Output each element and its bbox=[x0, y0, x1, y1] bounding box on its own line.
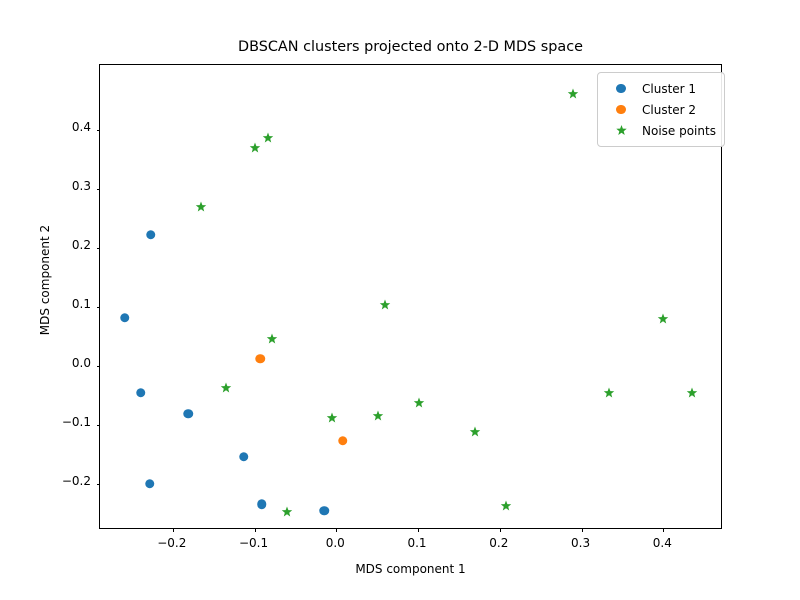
scatter-point bbox=[195, 201, 206, 212]
scatter-point bbox=[266, 333, 277, 344]
scatter-point bbox=[220, 383, 231, 394]
legend-box: Cluster 1Cluster 2Noise points bbox=[597, 72, 725, 147]
scatter-point bbox=[603, 388, 614, 399]
scatter-point bbox=[282, 507, 293, 518]
scatter-point bbox=[319, 506, 329, 516]
y-tick bbox=[97, 248, 101, 249]
y-tick bbox=[97, 366, 101, 367]
x-tick bbox=[255, 528, 256, 532]
x-tick bbox=[173, 528, 174, 532]
x-tick-label: 0.2 bbox=[489, 536, 508, 550]
scatter-point bbox=[257, 499, 267, 509]
legend-item[interactable]: Cluster 1 bbox=[604, 78, 716, 99]
x-tick bbox=[336, 528, 337, 532]
x-tick bbox=[663, 528, 664, 532]
x-tick-label: −0.2 bbox=[157, 536, 186, 550]
scatter-point bbox=[413, 398, 424, 409]
page-title: DBSCAN clusters projected onto 2-D MDS s… bbox=[99, 40, 722, 54]
scatter-point bbox=[145, 479, 155, 489]
scatter-point bbox=[567, 88, 578, 99]
scatter-point bbox=[372, 410, 383, 421]
scatter-point bbox=[658, 314, 669, 325]
legend-dot-icon bbox=[604, 105, 638, 115]
scatter-point bbox=[686, 388, 697, 399]
scatter-point bbox=[262, 132, 273, 143]
x-tick-label: 0.0 bbox=[326, 536, 345, 550]
legend-item-label: Noise points bbox=[638, 124, 716, 138]
legend-item-label: Cluster 1 bbox=[638, 82, 696, 96]
x-axis-label: MDS component 1 bbox=[99, 562, 722, 576]
matplotlib-figure: DBSCAN clusters projected onto 2-D MDS s… bbox=[0, 0, 800, 600]
legend-star-icon bbox=[604, 125, 638, 136]
scatter-point bbox=[501, 501, 512, 512]
scatter-point bbox=[327, 413, 338, 424]
legend-dot-icon bbox=[604, 84, 638, 94]
scatter-point bbox=[184, 409, 194, 419]
scatter-point bbox=[120, 313, 130, 323]
x-tick bbox=[418, 528, 419, 532]
x-tick-label: 0.1 bbox=[407, 536, 426, 550]
x-tick bbox=[582, 528, 583, 532]
scatter-point bbox=[338, 436, 348, 446]
x-tick-label: 0.3 bbox=[571, 536, 590, 550]
y-tick bbox=[97, 189, 101, 190]
scatter-point bbox=[256, 354, 266, 364]
scatter-point bbox=[239, 452, 249, 462]
scatter-point bbox=[136, 388, 146, 398]
scatter-point bbox=[146, 230, 156, 240]
scatter-point bbox=[380, 300, 391, 311]
x-tick bbox=[500, 528, 501, 532]
legend-item[interactable]: Noise points bbox=[604, 120, 716, 141]
x-tick-label: 0.4 bbox=[653, 536, 672, 550]
scatter-point bbox=[250, 143, 261, 154]
legend-item[interactable]: Cluster 2 bbox=[604, 99, 716, 120]
y-tick bbox=[97, 425, 101, 426]
scatter-point bbox=[470, 427, 481, 438]
x-tick-label: −0.1 bbox=[239, 536, 268, 550]
y-axis-label: MDS component 2 bbox=[38, 130, 52, 430]
legend-item-label: Cluster 2 bbox=[638, 103, 696, 117]
y-tick bbox=[97, 484, 101, 485]
y-tick bbox=[97, 307, 101, 308]
y-tick bbox=[97, 130, 101, 131]
